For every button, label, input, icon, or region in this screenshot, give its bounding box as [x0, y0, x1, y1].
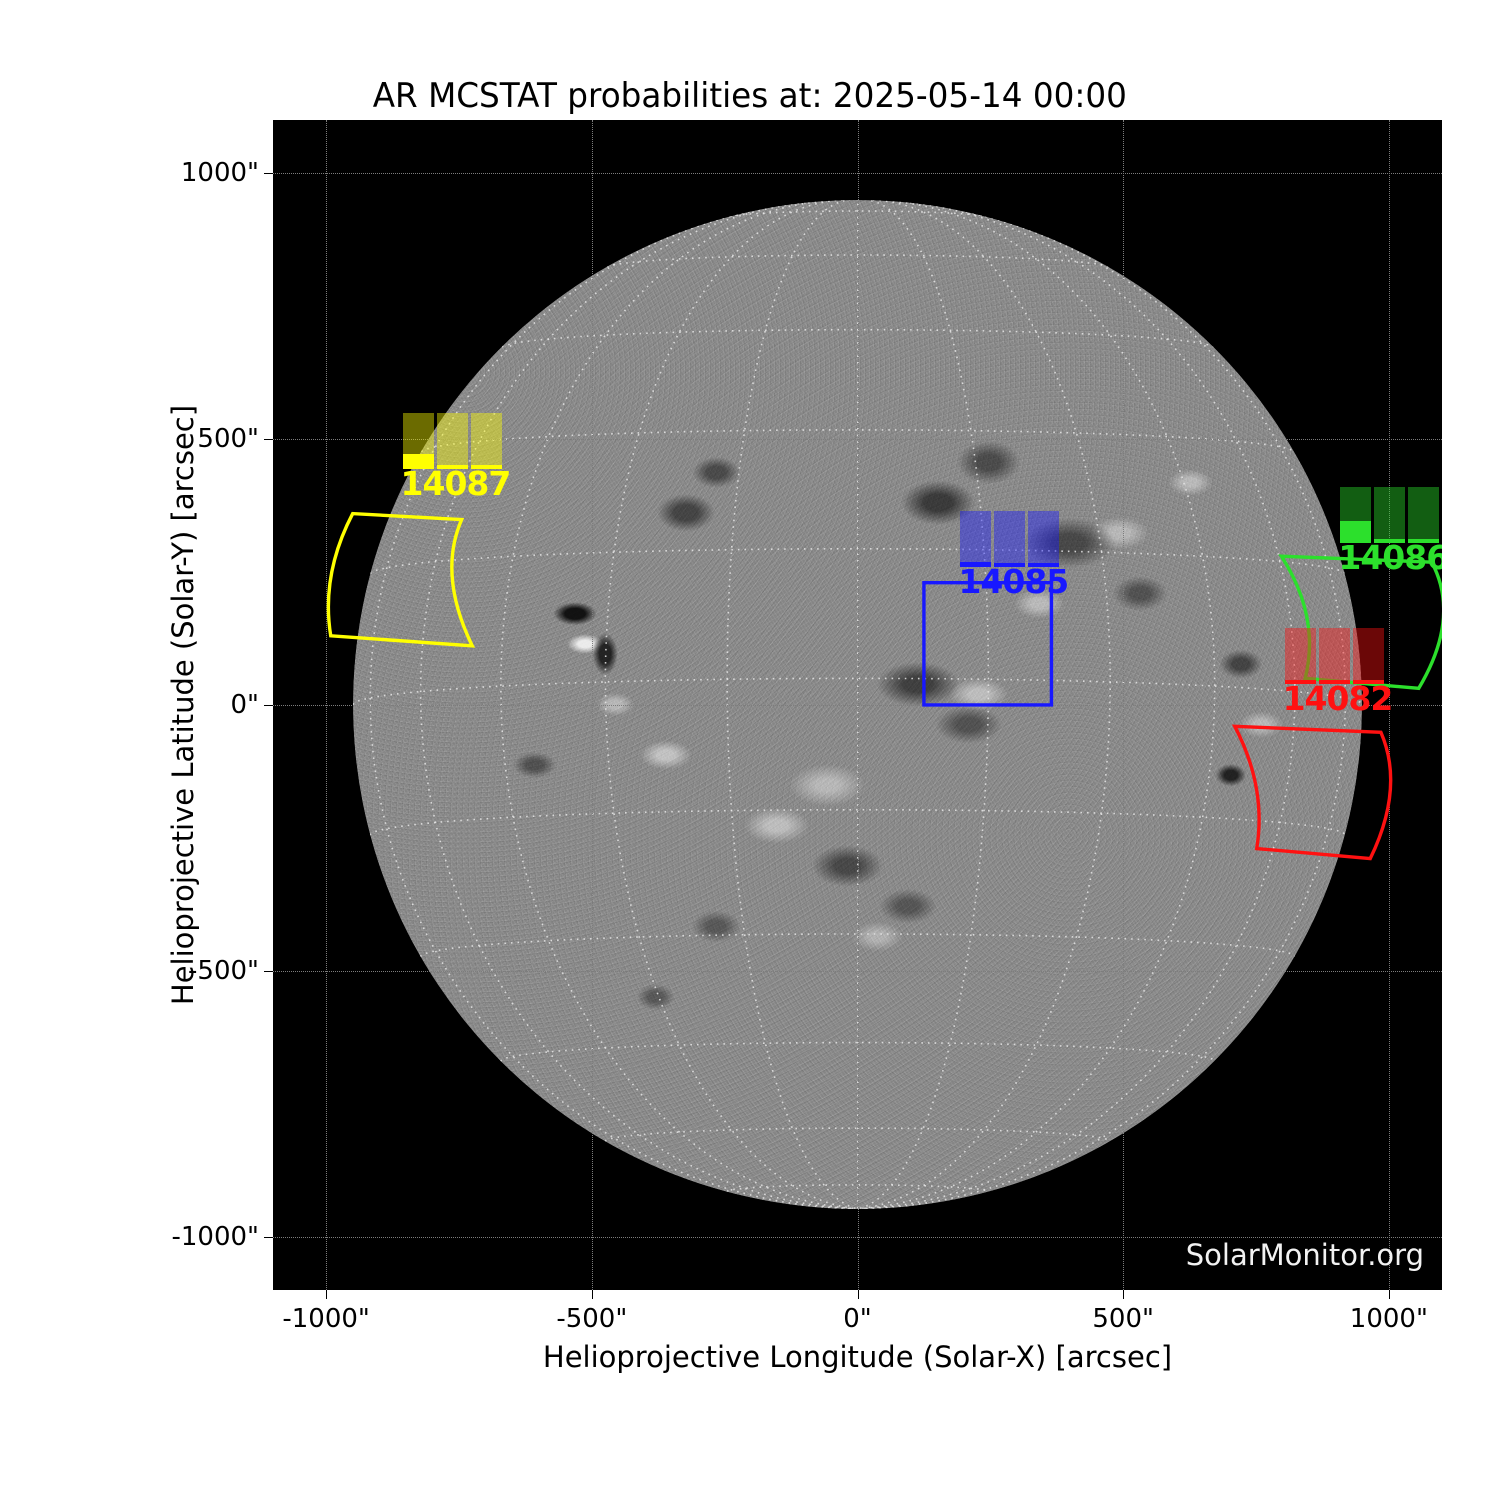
ar-prob-bar-track — [1319, 628, 1350, 684]
x-axis-label: Helioprojective Longitude (Solar-X) [arc… — [273, 1340, 1442, 1374]
x-tick-mark — [592, 1290, 593, 1299]
y-axis-label-wrap: Helioprojective Latitude (Solar-Y) [arcs… — [176, 120, 216, 1290]
y-tick-mark — [264, 1237, 273, 1238]
ar-boundary-14082[interactable] — [273, 120, 1442, 1290]
y-tick-mark — [264, 439, 273, 440]
y-tick-mark — [264, 971, 273, 972]
ar-prob-bar-track — [1285, 628, 1316, 684]
y-tick-mark — [264, 705, 273, 706]
ar-label-14082[interactable]: 14082 — [1283, 682, 1393, 715]
x-tick-mark — [326, 1290, 327, 1299]
ar-prob-bar-track — [1353, 628, 1384, 684]
x-tick-label: -1000" — [282, 1304, 370, 1334]
x-tick-label: 500" — [1092, 1304, 1154, 1334]
ar-prob-bar-14082-C — [1285, 628, 1316, 684]
y-axis-label: Helioprojective Latitude (Solar-Y) [arcs… — [166, 120, 206, 1290]
y-tick-mark — [264, 173, 273, 174]
page-title-text: AR MCSTAT probabilities at: 2025-05-14 0… — [373, 76, 1127, 116]
x-tick-label: -500" — [556, 1304, 627, 1334]
x-tick-mark — [858, 1290, 859, 1299]
ar-probability-bars-14082 — [1285, 628, 1384, 684]
page-title: AR MCSTAT probabilities at: 2025-05-14 0… — [0, 76, 1500, 116]
y-tick-label: 0" — [230, 690, 259, 720]
plot-area: 14087140851408614082 SolarMonitor.org — [273, 120, 1442, 1290]
x-tick-label: 1000" — [1350, 1304, 1428, 1334]
ar-prob-bar-14082-M — [1319, 628, 1350, 684]
solarmonitor-magnetogram-page: AR MCSTAT probabilities at: 2025-05-14 0… — [0, 0, 1500, 1500]
x-tick-mark — [1389, 1290, 1390, 1299]
x-tick-mark — [1123, 1290, 1124, 1299]
x-tick-label: 0" — [843, 1304, 872, 1334]
watermark: SolarMonitor.org — [1186, 1238, 1424, 1272]
ar-prob-bar-14082-X — [1353, 628, 1384, 684]
